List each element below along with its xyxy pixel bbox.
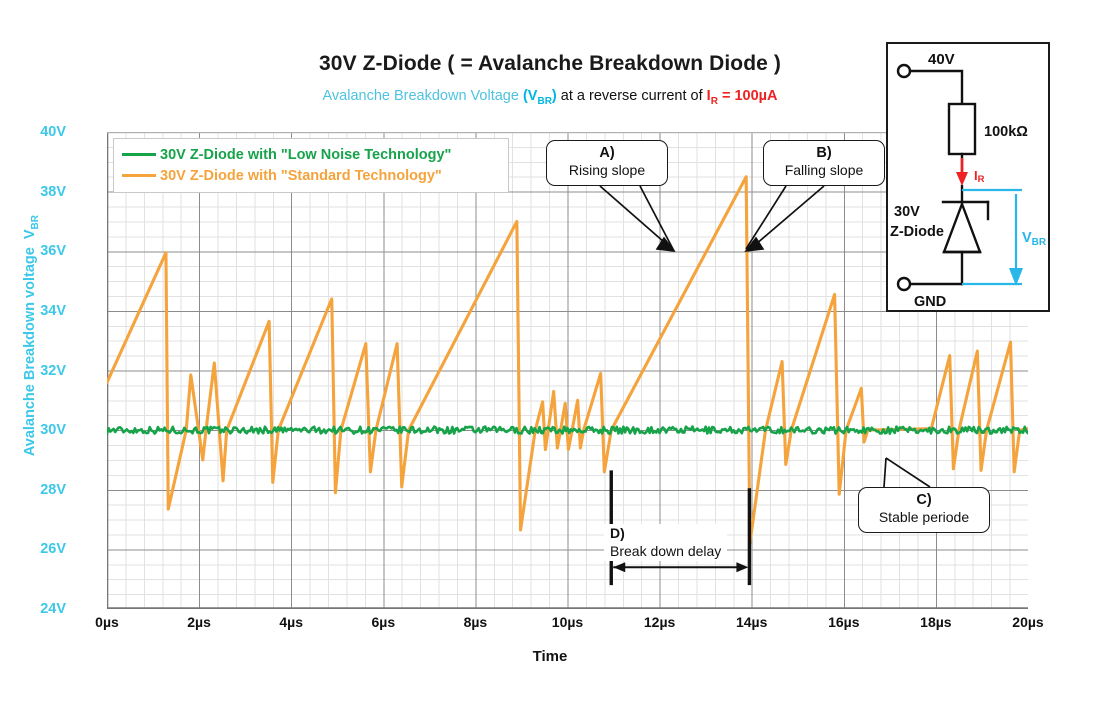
circuit-supply-label: 40V	[928, 51, 955, 68]
callout-d-tag: D)	[610, 525, 721, 543]
legend-swatch-standard	[122, 174, 156, 177]
chart-legend: 30V Z-Diode with "Low Noise Technology" …	[113, 138, 509, 193]
x-tick-6: 6µs	[371, 614, 395, 630]
legend-label-standard: 30V Z-Diode with "Standard Technology"	[160, 168, 442, 184]
supply-terminal-icon	[898, 65, 910, 77]
circuit-vbr-label: VBR	[1022, 230, 1047, 248]
resistor-symbol	[949, 104, 975, 154]
x-tick-16: 16µs	[828, 614, 859, 630]
legend-label-low-noise: 30V Z-Diode with "Low Noise Technology"	[160, 147, 451, 163]
y-tick-28: 28V	[40, 482, 66, 498]
subtitle-part1: Avalanche Breakdown Voltage	[323, 88, 523, 104]
callout-b-text: Falling slope	[774, 162, 874, 179]
legend-item-standard: 30V Z-Diode with "Standard Technology"	[122, 165, 496, 186]
callout-b-falling-slope: B) Falling slope	[763, 140, 885, 186]
x-tick-8: 8µs	[464, 614, 488, 630]
y-tick-26: 26V	[40, 541, 66, 557]
x-tick-12: 12µs	[644, 614, 675, 630]
circuit-diode-label-2: Z-Diode	[890, 224, 944, 240]
y-tick-38: 38V	[40, 184, 66, 200]
x-tick-14: 14µs	[736, 614, 767, 630]
circuit-diode-label-1: 30V	[894, 204, 920, 220]
callout-a-rising-slope: A) Rising slope	[546, 140, 668, 186]
zener-diode-symbol	[944, 204, 980, 252]
x-axis-title: Time	[0, 648, 1100, 665]
callout-c-text: Stable periode	[869, 509, 979, 526]
legend-item-low-noise: 30V Z-Diode with "Low Noise Technology"	[122, 144, 496, 165]
callout-c-stable-periode: C) Stable periode	[858, 487, 990, 533]
x-tick-10: 10µs	[552, 614, 583, 630]
callout-c-tag: C)	[869, 492, 979, 509]
y-axis-title: Avalanche Breakdown voltage VBR	[22, 215, 41, 456]
callout-a-tag: A)	[557, 145, 657, 162]
x-tick-0: 0µs	[95, 614, 119, 630]
callout-d-breakdown-delay: D) Break down delay	[604, 524, 727, 561]
x-tick-2: 2µs	[187, 614, 211, 630]
subtitle-ir: IR = 100µA	[707, 88, 778, 104]
legend-swatch-low-noise	[122, 153, 156, 156]
y-tick-34: 34V	[40, 303, 66, 319]
callout-b-tag: B)	[774, 145, 874, 162]
y-tick-24: 24V	[40, 601, 66, 617]
y-tick-36: 36V	[40, 243, 66, 259]
chart-page: 1-23c 30V Z-Diode ( = Avalanche Breakdow…	[0, 0, 1100, 712]
circuit-resistor-label: 100kΩ	[984, 124, 1028, 140]
circuit-current-label: IR	[974, 168, 985, 185]
y-tick-40: 40V	[40, 124, 66, 140]
x-tick-18: 18µs	[920, 614, 951, 630]
circuit-diagram-inset: 40V 100kΩ IR 30V Z-Diode VBR GND	[886, 42, 1050, 312]
x-tick-20: 20µs	[1012, 614, 1043, 630]
ground-terminal-icon	[898, 278, 910, 290]
subtitle-part2: at a reverse current of	[557, 88, 707, 104]
y-tick-32: 32V	[40, 363, 66, 379]
y-tick-30: 30V	[40, 422, 66, 438]
callout-a-text: Rising slope	[557, 162, 657, 179]
callout-d-text: Break down delay	[610, 543, 721, 561]
current-arrow-icon	[956, 158, 968, 186]
subtitle-vbr: (VBR)	[523, 88, 557, 104]
circuit-gnd-label: GND	[914, 294, 946, 310]
circuit-svg: 40V 100kΩ IR 30V Z-Diode VBR GND	[888, 44, 1048, 310]
x-tick-4: 4µs	[279, 614, 303, 630]
